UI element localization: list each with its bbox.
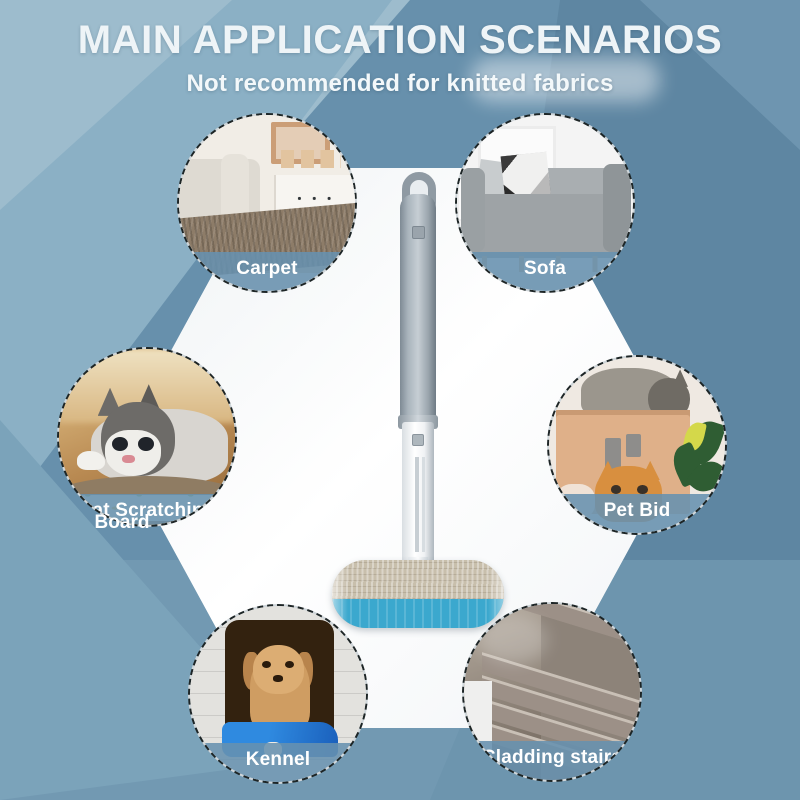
product-handle-slot bbox=[415, 457, 419, 552]
product-felt-pad bbox=[332, 560, 504, 599]
product-image-pet-hair-brush bbox=[320, 172, 500, 622]
scenario-circle-pet-bid[interactable]: Pet Bid bbox=[547, 355, 727, 535]
scenario-label-kennel: Kennel bbox=[190, 743, 366, 782]
product-upper-button bbox=[412, 226, 425, 239]
product-handle-slot-secondary bbox=[422, 457, 425, 552]
product-lower-button bbox=[412, 434, 424, 446]
product-brush-head bbox=[332, 560, 504, 628]
product-head-highlight-left bbox=[332, 560, 348, 628]
scenario-label-cat-scratching-board-line2: Board bbox=[12, 512, 232, 534]
scenario-circle-cat-scratching-board[interactable]: Cat Scratching bbox=[57, 347, 237, 527]
page-title: MAIN APPLICATION SCENARIOS bbox=[0, 18, 800, 63]
scenario-label-pet-bid: Pet Bid bbox=[549, 494, 725, 533]
scenario-circle-kennel[interactable]: Kennel bbox=[188, 604, 368, 784]
product-head-highlight-right bbox=[488, 560, 504, 628]
scenario-label-cladding-stairs: Cladding stairs bbox=[464, 741, 640, 780]
scenario-circle-cladding-stairs[interactable]: Cladding stairs bbox=[462, 602, 642, 782]
product-blue-pad bbox=[332, 599, 504, 628]
page-subtitle: Not recommended for knitted fabrics bbox=[0, 70, 800, 98]
infographic-canvas: MAIN APPLICATION SCENARIOS Not recommend… bbox=[0, 0, 800, 800]
